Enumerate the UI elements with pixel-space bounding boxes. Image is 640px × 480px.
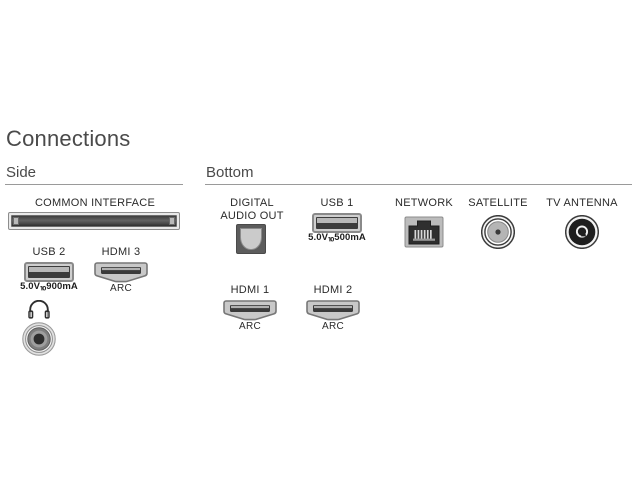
ci-slot-icon[interactable]: [8, 212, 180, 230]
hdmi3-label: HDMI 3: [87, 246, 155, 259]
common-interface-label: COMMON INTERFACE: [6, 197, 184, 210]
usb-port-icon[interactable]: [312, 213, 362, 233]
hdmi-port-icon[interactable]: [222, 299, 278, 321]
rj45-port-icon[interactable]: [404, 216, 444, 248]
page-title: Connections: [6, 126, 131, 152]
hdmi3-arc-label: ARC: [87, 283, 155, 295]
hdmi1-label: HDMI 1: [214, 284, 286, 297]
coax-antenna-icon[interactable]: [565, 215, 599, 249]
coax-satellite-icon[interactable]: [481, 215, 515, 249]
usb1-power-label: 5.0V⏨500mA: [297, 232, 377, 243]
section-rule-side: [5, 184, 183, 185]
hdmi1-arc-label: ARC: [214, 321, 286, 333]
headphone-jack-icon[interactable]: [22, 322, 56, 356]
tv-antenna-label: TV ANTENNA: [535, 197, 629, 210]
hdmi-port-icon[interactable]: [305, 299, 361, 321]
usb1-label: USB 1: [298, 197, 376, 210]
usb2-label: USB 2: [9, 246, 89, 259]
hdmi2-label: HDMI 2: [297, 284, 369, 297]
usb-port-icon[interactable]: [24, 262, 74, 282]
headphone-icon: [27, 300, 51, 319]
network-label: NETWORK: [378, 197, 470, 210]
section-heading-bottom: Bottom: [206, 163, 254, 182]
digital-audio-out-label: DIGITAL AUDIO OUT: [206, 197, 298, 223]
satellite-label: SATELLITE: [459, 197, 537, 210]
usb2-power-label: 5.0V⏨900mA: [9, 281, 89, 292]
section-rule-bottom: [205, 184, 632, 185]
hdmi-port-icon[interactable]: [93, 261, 149, 283]
optical-audio-icon[interactable]: [236, 224, 266, 254]
hdmi2-arc-label: ARC: [297, 321, 369, 333]
section-heading-side: Side: [6, 163, 36, 182]
